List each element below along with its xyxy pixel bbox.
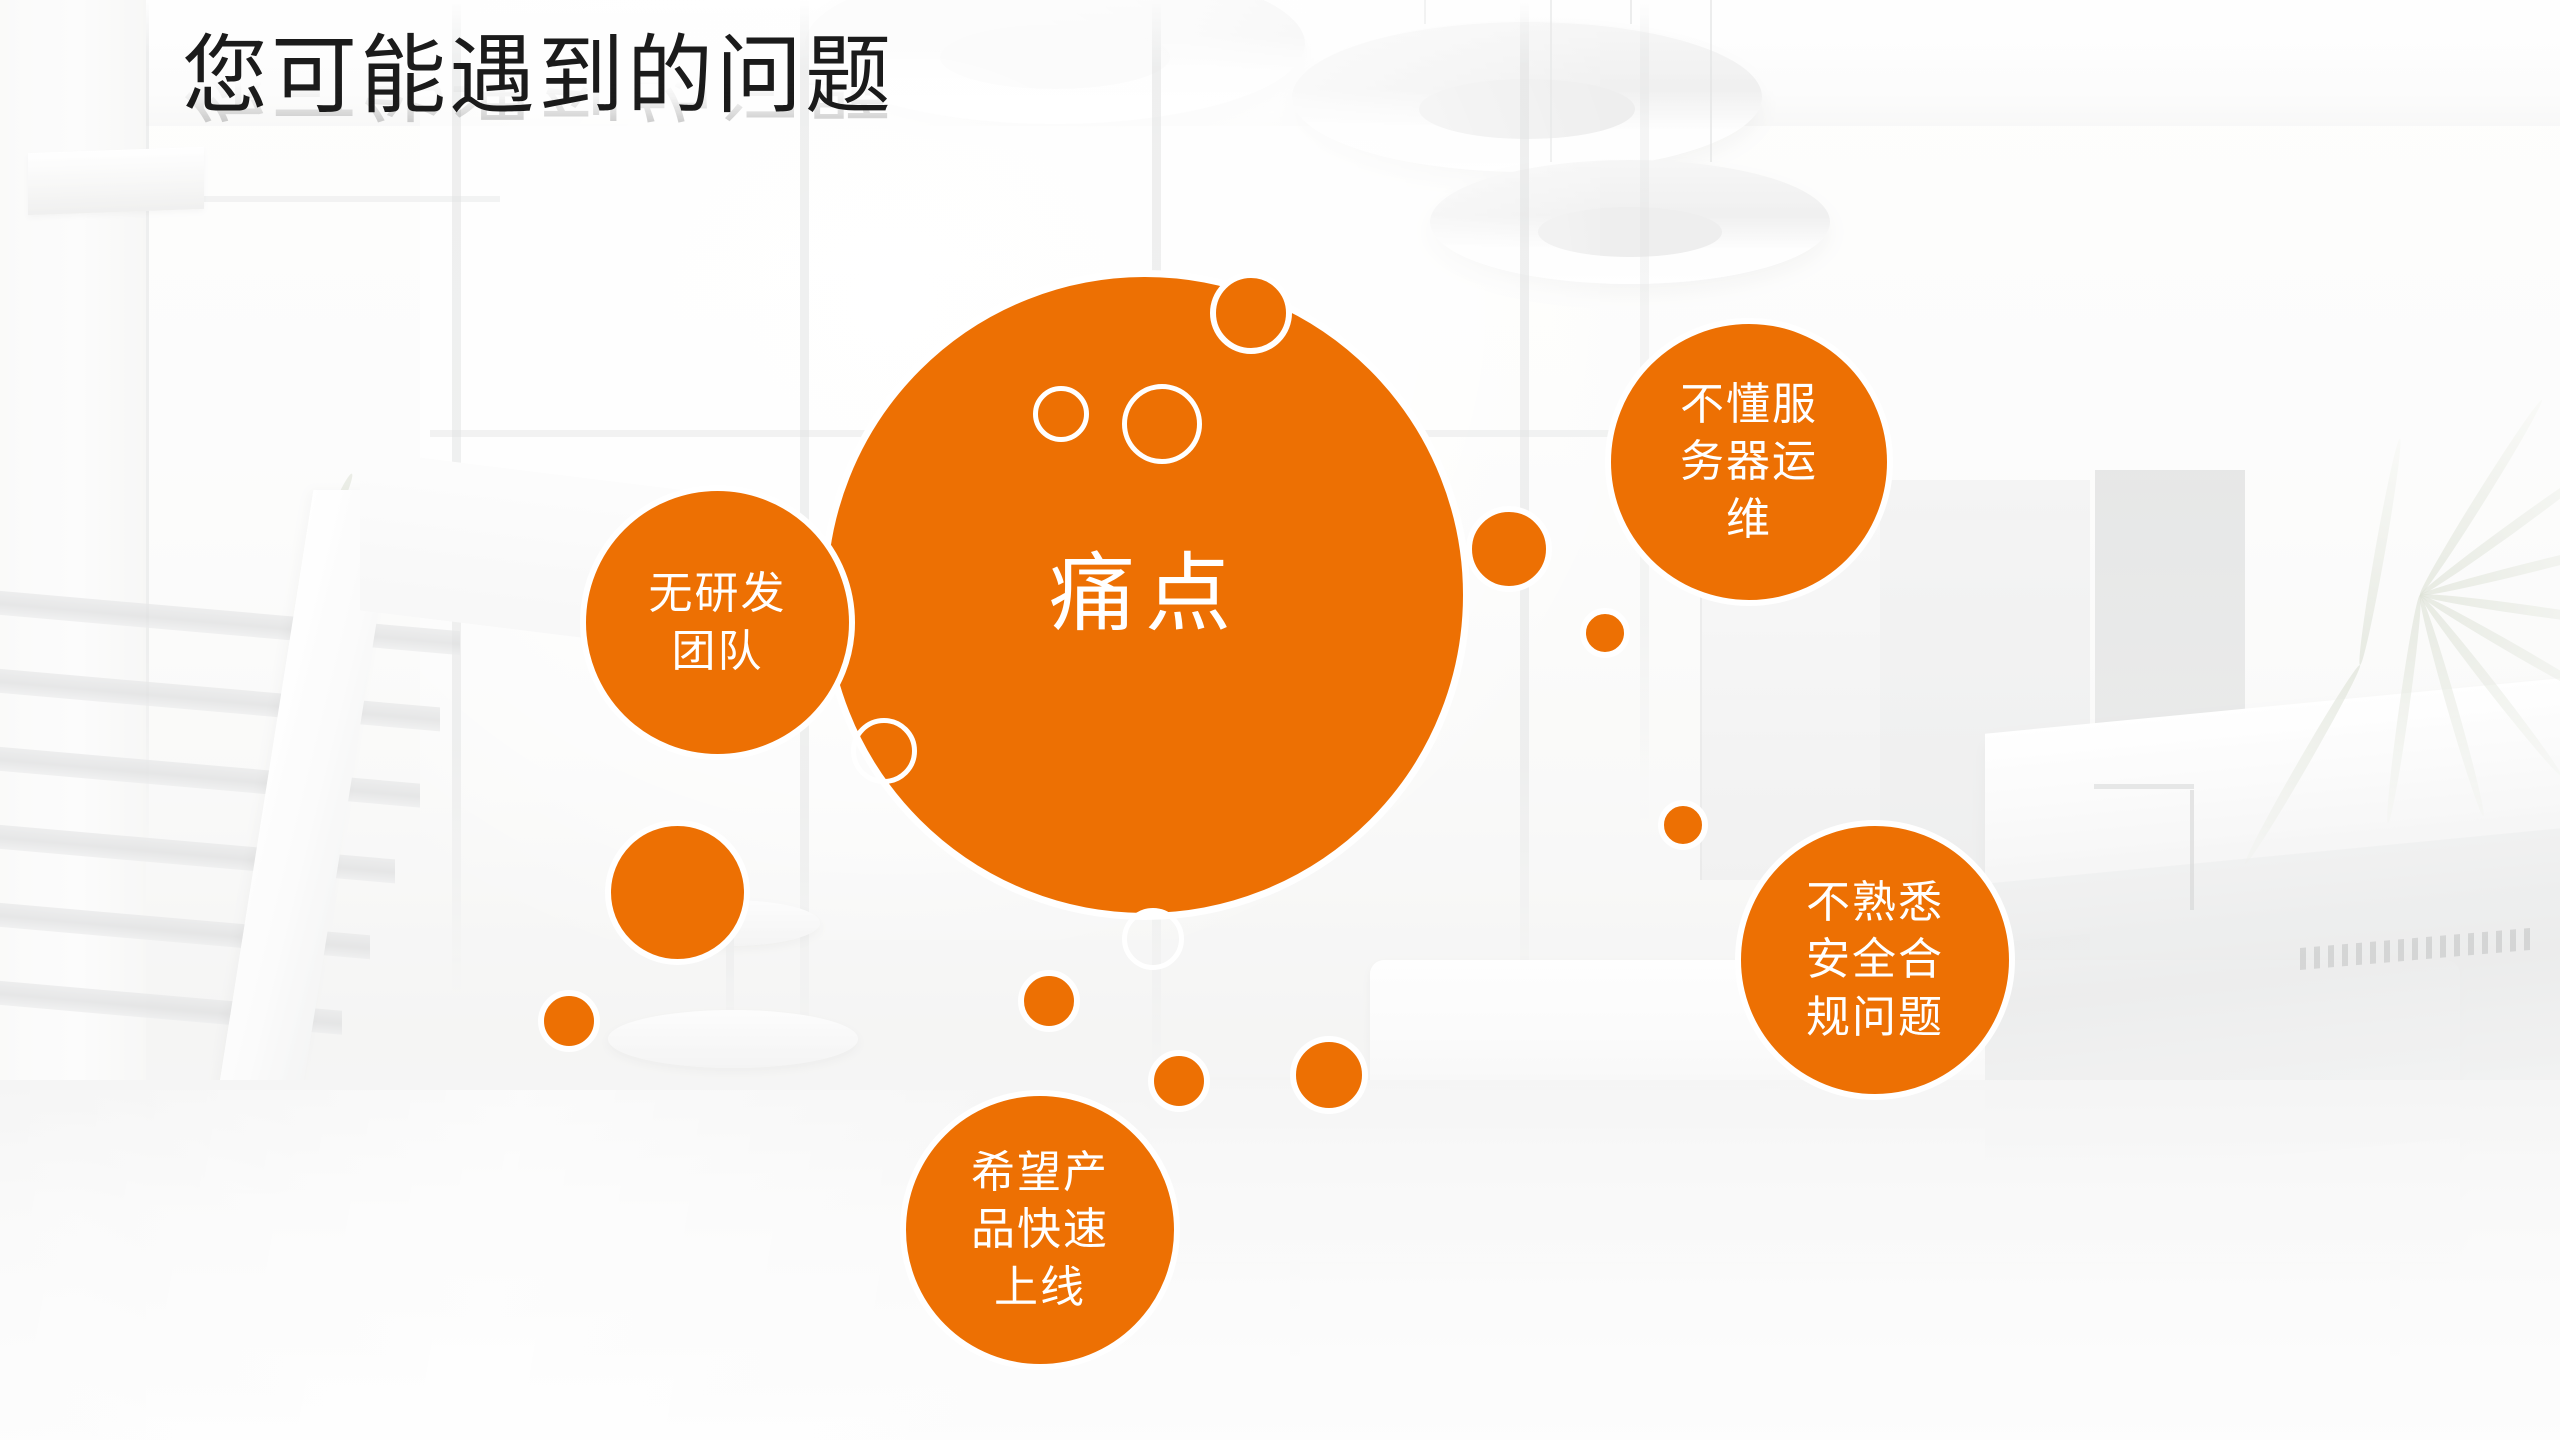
decorative-ring-icon: [1033, 386, 1089, 442]
slide-canvas: 您可能遇到的问题 您可能遇到的问题 痛点 无研发 团队 不懂服 务器运 维 不熟…: [0, 0, 2560, 1440]
page-title: 您可能遇到的问题 您可能遇到的问题: [182, 30, 894, 218]
decorative-dot-icon: [1580, 608, 1630, 658]
decorative-ring-icon: [851, 718, 917, 784]
bubble-fast-launch-label: 希望产 品快速 上线: [971, 1144, 1109, 1316]
decorative-dot-icon: [1466, 506, 1552, 592]
decorative-dot-icon: [1210, 272, 1292, 354]
bubble-main-label: 痛点: [1049, 539, 1241, 651]
bubble-main-pain-points[interactable]: 痛点: [820, 270, 1470, 920]
decorative-dot-icon: [1148, 1050, 1210, 1112]
page-title-reflection: 您可能遇到的问题: [182, 32, 894, 125]
bubble-no-rd-team[interactable]: 无研发 团队: [580, 485, 855, 760]
decorative-dot-icon: [1290, 1036, 1368, 1114]
decorative-dot-icon: [538, 990, 600, 1052]
decorative-ring-icon: [1122, 908, 1184, 970]
decorative-dot-icon: [1658, 800, 1708, 850]
bubble-security-compliance-label: 不熟悉 安全合 规问题: [1806, 874, 1944, 1046]
bubble-server-ops[interactable]: 不懂服 务器运 维: [1605, 318, 1893, 606]
bubble-no-rd-team-label: 无研发 团队: [649, 565, 787, 679]
bubble-server-ops-label: 不懂服 务器运 维: [1680, 376, 1818, 548]
bubble-fast-launch[interactable]: 希望产 品快速 上线: [900, 1090, 1180, 1370]
decorative-dot-icon: [605, 820, 750, 965]
decorative-ring-icon: [1122, 384, 1202, 464]
decorative-dot-icon: [1018, 970, 1080, 1032]
bubble-security-compliance[interactable]: 不熟悉 安全合 规问题: [1735, 820, 2015, 1100]
